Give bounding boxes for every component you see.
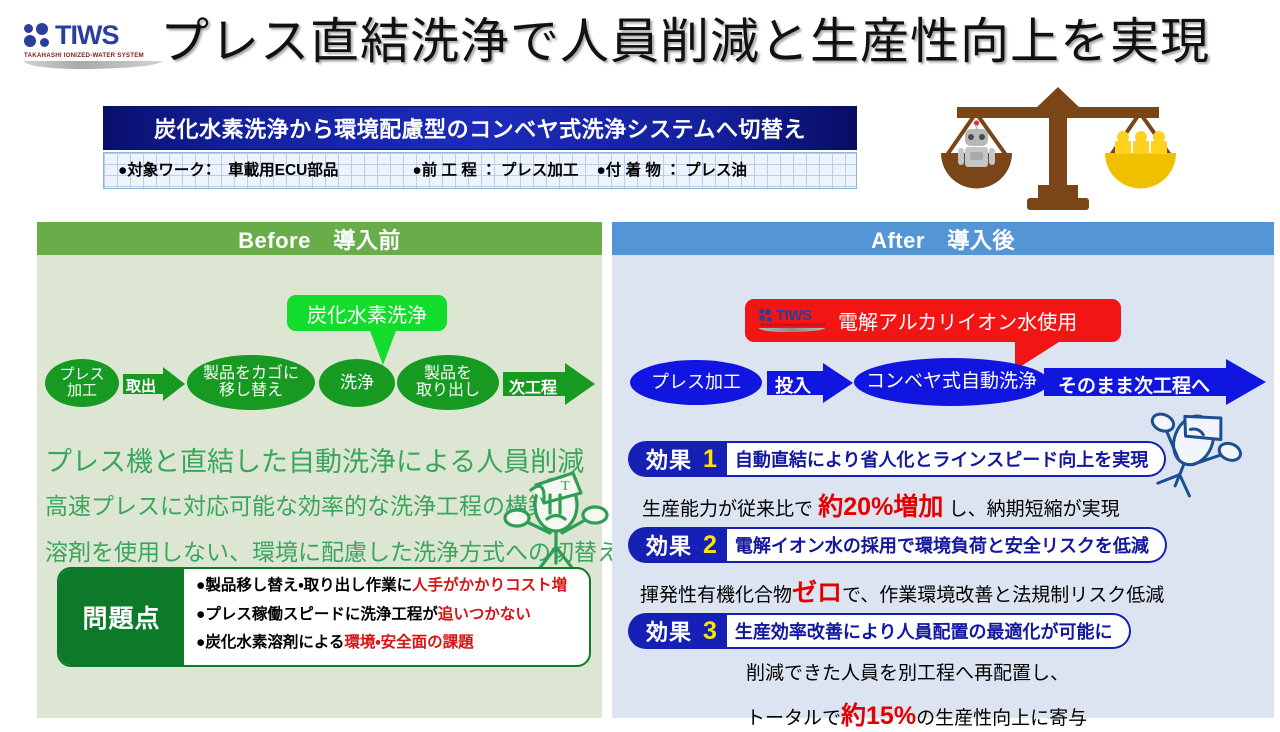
effect-1-desc-post: し、納期短縮が実現 <box>943 499 1119 520</box>
effect-3-title-wrap: 生産効率改善により人員配置の最適化が可能に <box>727 613 1131 649</box>
flow-step-transfer-label: 製品をカゴに 移し替え <box>203 366 299 400</box>
effect-row-3: 効果 3 生産効率改善により人員配置の最適化が可能に <box>628 613 1131 649</box>
effect-2-badge: 効果 2 <box>628 527 727 563</box>
subtitle-banner-text: 炭化水素洗浄から環境配慮型のコンベヤ式洗浄システムへ切替え <box>154 112 806 144</box>
effect-3-badge: 効果 3 <box>628 613 727 649</box>
flow-arrow-remove: 取出 <box>123 367 185 401</box>
callout-hydrocarbon-cleaning-text: 炭化水素洗浄 <box>307 299 427 328</box>
tiws-mini-logo-tagline: TAKAHASHI IONIZED-WATER SYSTEM <box>759 324 829 328</box>
effect-3-desc-post: の生産性向上に寄与 <box>916 708 1087 729</box>
problem-item-2-text: ●プレス稼働スピードに洗浄工程が <box>196 606 438 623</box>
effect-1-title: 自動直結により省人化とラインスピード向上を実現 <box>735 446 1148 472</box>
problem-item-3-text: ●炭化水素溶剤による <box>196 634 344 651</box>
spec-item-contaminant: ●付 着 物 ： プレス油 <box>596 163 747 179</box>
effect-1-number: 1 <box>703 445 717 474</box>
effect-2-number: 2 <box>703 531 717 560</box>
tiws-logo-wordmark: TIWS <box>55 22 119 49</box>
effect-3-number: 3 <box>703 617 717 646</box>
flow-step-unload: 製品を 取り出し <box>397 355 499 410</box>
effect-2-title-wrap: 電解イオン水の採用で環境負荷と安全リスクを低減 <box>727 527 1167 563</box>
effect-1-description: 生産能力が従来比で 約20%増加 し、納期短縮が実現 <box>642 487 1120 523</box>
svg-text:T: T <box>561 479 570 494</box>
problem-item-1-highlight: 人手がかかりコスト増 <box>412 577 567 594</box>
sad-stick-figure-icon: T <box>495 455 615 570</box>
flow-step-press: プレス 加工 <box>45 359 119 407</box>
balance-scale-icon <box>935 85 1180 210</box>
spec-item-process: ●前 工 程 ： プレス加工 <box>412 163 578 179</box>
happy-stick-figure-icon <box>1148 388 1253 498</box>
slide-root: TIWS TAKAHASHI IONIZED-WATER SYSTEM プレス直… <box>0 0 1280 720</box>
after-flow-arrow-input: 投入 <box>767 363 853 403</box>
effect-2-desc-highlight: ゼロ <box>792 579 842 607</box>
spec-bar: ●対象ワーク： 車載用ECU部品 ●前 工 程 ： プレス加工 ●付 着 物 ：… <box>103 152 857 189</box>
effect-1-desc-pre: 生産能力が従来比で <box>642 499 818 520</box>
effect-1-desc-highlight: 約20%増加 <box>818 493 943 521</box>
effect-row-2: 効果 2 電解イオン水の採用で環境負荷と安全リスクを低減 <box>628 527 1167 563</box>
effect-2-description: 揮発性有機化合物ゼロで、作業環境改善と法規制リスク低減 <box>640 573 1164 609</box>
tiws-logo-swoosh-icon <box>24 61 162 69</box>
effect-3-description-line2: トータルで約15%の生産性向上に寄与 <box>746 696 1087 732</box>
effect-row-1: 効果 1 自動直結により省人化とラインスピード向上を実現 <box>628 441 1166 477</box>
before-line-2: 高速プレスに対応可能な効率的な洗浄工程の構築 <box>45 487 551 521</box>
effect-2-title: 電解イオン水の採用で環境負荷と安全リスクを低減 <box>735 532 1149 558</box>
after-flow-step-conveyor-wash: コンベヤ式自動洗浄 <box>854 358 1049 406</box>
problem-item-2: ●プレス稼働スピードに洗浄工程が追いつかない <box>196 607 589 623</box>
subtitle-banner: 炭化水素洗浄から環境配慮型のコンベヤ式洗浄システムへ切替え <box>103 106 857 150</box>
after-flow-step-conveyor-wash-label: コンベヤ式自動洗浄 <box>866 372 1037 392</box>
after-flow-step-press: プレス加工 <box>630 360 762 405</box>
problem-box: 問題点 ●製品移し替え・取り出し作業に人手がかかりコスト増 ●プレス稼働スピード… <box>57 567 591 667</box>
tiws-mini-logo-wordmark: TIWS <box>776 308 812 323</box>
tiws-mini-logo-swoosh-icon <box>759 328 825 332</box>
callout-hydrocarbon-cleaning: 炭化水素洗浄 <box>287 295 447 331</box>
callout-alkaline-water: TIWS TAKAHASHI IONIZED-WATER SYSTEM 電解アル… <box>745 299 1121 342</box>
tiws-logo-tagline: TAKAHASHI IONIZED-WATER SYSTEM <box>24 52 164 59</box>
tiws-mini-logo: TIWS TAKAHASHI IONIZED-WATER SYSTEM <box>759 308 829 334</box>
page-title: プレス直結洗浄で人員削減と生産性向上を実現 <box>160 6 1275 78</box>
flow-step-transfer: 製品をカゴに 移し替え <box>187 355 315 410</box>
after-flow-step-press-label: プレス加工 <box>651 373 741 392</box>
effect-2-desc-post: で、作業環境改善と法規制リスク低減 <box>842 585 1164 606</box>
flow-step-unload-label: 製品を 取り出し <box>416 366 480 400</box>
effect-3-word: 効果 <box>646 615 692 647</box>
problem-box-label: 問題点 <box>59 569 184 665</box>
effect-2-desc-pre: 揮発性有機化合物 <box>640 585 792 606</box>
effect-1-word: 効果 <box>646 443 692 475</box>
slide-header: TIWS TAKAHASHI IONIZED-WATER SYSTEM プレス直… <box>0 0 1280 88</box>
after-flow-arrow-input-label: 投入 <box>775 372 811 398</box>
tiws-logo: TIWS TAKAHASHI IONIZED-WATER SYSTEM <box>24 22 164 72</box>
effect-3-title: 生産効率改善により人員配置の最適化が可能に <box>735 618 1113 644</box>
problem-item-2-highlight: 追いつかない <box>438 606 531 623</box>
problem-item-3: ●炭化水素溶剤による環境・安全面の課題 <box>196 635 589 651</box>
effect-3-description-line1: 削減できた人員を別工程へ再配置し、 <box>746 658 1069 685</box>
tiws-logo-dots-icon <box>24 23 50 49</box>
flow-step-wash: 洗浄 <box>319 359 395 407</box>
effect-1-badge: 効果 1 <box>628 441 727 477</box>
effect-1-title-wrap: 自動直結により省人化とラインスピード向上を実現 <box>727 441 1166 477</box>
problem-item-1: ●製品移し替え・取り出し作業に人手がかかりコスト増 <box>196 578 589 594</box>
spec-item-workpiece: ●対象ワーク： 車載用ECU部品 <box>118 163 338 179</box>
effect-2-word: 効果 <box>646 529 692 561</box>
problem-item-3-highlight: 環境・安全面の課題 <box>344 634 473 651</box>
panel-after-header: After 導入後 <box>612 222 1274 255</box>
panel-before-header: Before 導入前 <box>37 222 602 255</box>
effect-3-desc-highlight: 約15% <box>841 702 916 730</box>
flow-step-wash-label: 洗浄 <box>340 374 374 392</box>
effect-3-desc-pre: トータルで <box>746 708 841 729</box>
flow-arrow-next-process: 次工程 <box>503 363 595 405</box>
flow-arrow-remove-label: 取出 <box>126 375 156 396</box>
flow-arrow-next-process-label: 次工程 <box>509 374 557 398</box>
problem-item-1-text: ●製品移し替え・取り出し作業に <box>196 577 412 594</box>
callout-alkaline-water-text: 電解アルカリイオン水使用 <box>838 306 1077 335</box>
problem-box-items: ●製品移し替え・取り出し作業に人手がかかりコスト増 ●プレス稼働スピードに洗浄工… <box>184 569 589 665</box>
flow-step-press-label: プレス 加工 <box>59 367 104 399</box>
